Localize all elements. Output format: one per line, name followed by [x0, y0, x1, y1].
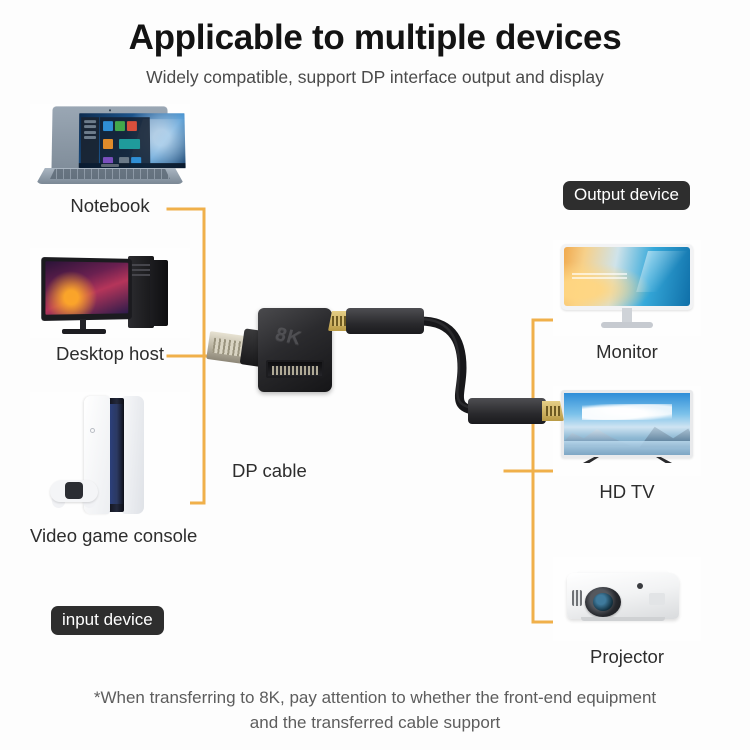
device-label-monitor: Monitor [553, 341, 701, 363]
dp-cable-label: DP cable [232, 460, 307, 482]
footnote-line-1: *When transferring to 8K, pay attention … [55, 686, 695, 711]
footnote: *When transferring to 8K, pay attention … [55, 686, 695, 735]
infographic-page: Applicable to multiple devices Widely co… [0, 0, 750, 750]
status-badge-input: input device [51, 606, 164, 635]
device-label-notebook: Notebook [30, 195, 190, 217]
device-label-desktop: Desktop host [30, 343, 190, 365]
footnote-line-2: and the transferred cable support [55, 711, 695, 736]
device-card-projector: Projector [553, 557, 701, 668]
device-card-desktop: Desktop host [30, 248, 190, 365]
curved-monitor-icon [553, 240, 701, 336]
dp-connector-head-right [468, 398, 546, 424]
game-console-icon [30, 392, 190, 520]
device-label-tv: HD TV [553, 481, 701, 503]
device-card-tv: HD TV [553, 386, 701, 503]
device-label-console: Video game console [30, 525, 190, 547]
desktop-computer-icon [30, 248, 190, 338]
projector-icon [553, 557, 701, 641]
dp-female-port [266, 360, 324, 378]
device-card-monitor: Monitor [553, 240, 701, 363]
device-card-console: Video game console [30, 392, 190, 547]
product-hardware-illustration: 8K [200, 290, 540, 470]
television-icon [553, 386, 701, 476]
device-card-notebook: Notebook [30, 104, 190, 217]
status-badge-output: Output device [563, 181, 690, 210]
device-label-projector: Projector [553, 646, 701, 668]
laptop-icon [30, 104, 190, 190]
dp-connector-head-left [346, 308, 424, 334]
